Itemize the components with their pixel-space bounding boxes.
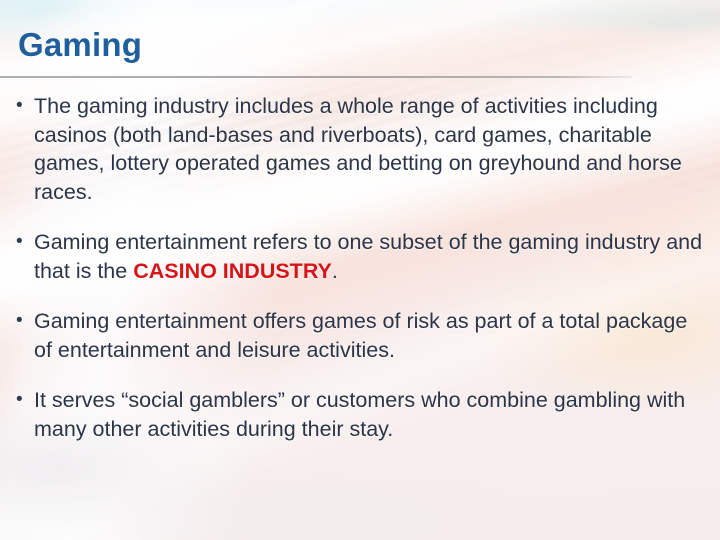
bullet-marker-icon: • — [16, 92, 34, 120]
bullet-item: • The gaming industry includes a whole r… — [16, 92, 706, 206]
bullet-text-part: . — [332, 259, 338, 283]
bullet-item: • It serves “social gamblers” or custome… — [16, 386, 706, 443]
slide-content: Gaming • The gaming industry includes a … — [0, 0, 720, 540]
bullet-text: The gaming industry includes a whole ran… — [34, 92, 706, 206]
title-divider-rule — [0, 76, 632, 78]
bullet-text: It serves “social gamblers” or customers… — [34, 386, 706, 443]
bullet-item: • Gaming entertainment refers to one sub… — [16, 228, 706, 285]
bullet-text-part: Gaming entertainment offers games of ris… — [34, 309, 687, 362]
bullet-text-part: The gaming industry includes a whole ran… — [34, 94, 682, 204]
highlighted-term: CASINO INDUSTRY — [133, 259, 332, 283]
bullet-marker-icon: • — [16, 386, 34, 414]
bullet-marker-icon: • — [16, 228, 34, 256]
slide-title: Gaming — [18, 26, 142, 64]
bullet-text: Gaming entertainment offers games of ris… — [34, 307, 706, 364]
bullet-text: Gaming entertainment refers to one subse… — [34, 228, 706, 285]
slide-body-placeholder: • The gaming industry includes a whole r… — [16, 92, 706, 465]
presentation-slide: Gaming • The gaming industry includes a … — [0, 0, 720, 540]
bullet-item: • Gaming entertainment offers games of r… — [16, 307, 706, 364]
bullet-text-part: It serves “social gamblers” or customers… — [34, 388, 685, 441]
bullet-marker-icon: • — [16, 307, 34, 335]
